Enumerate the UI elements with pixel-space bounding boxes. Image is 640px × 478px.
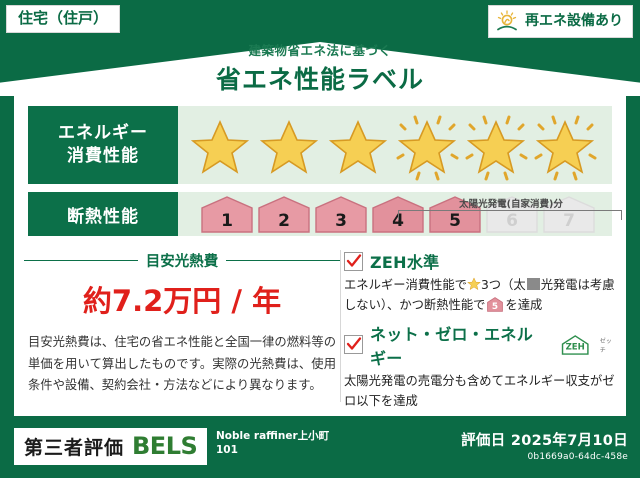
star-2 — [255, 111, 324, 181]
claim-net-zero-body: 太陽光発電の売電分も含めてエネルギー収支がゼロ以下を達成 — [344, 372, 616, 412]
energy-performance-label: エネルギー 消費性能 — [28, 106, 178, 184]
building-type-badge: 住宅（住戸） — [6, 5, 120, 33]
cost-rule-left — [24, 260, 138, 262]
zeh-logo-kana: ゼッチ — [600, 336, 616, 354]
cost-column: 目安光熱費 約7.2万円 / 年 目安光熱費は、住宅の省エネ性能と全国一律の燃料… — [24, 246, 340, 397]
star-1 — [186, 111, 255, 181]
evaluation-date-label: 評価日 — [461, 433, 505, 449]
energy-label-card: 住宅（住戸） 再エネ設備あり 建築物省エネ法に基づく 省エネ性能ラベル — [0, 0, 640, 478]
checkbox-net-zero — [344, 335, 363, 354]
evaluation-info: 評価日 2025年7月10日 0b1669a0-64dc-458e — [461, 429, 628, 462]
star-3 — [324, 111, 393, 181]
property-name: Noble raffiner上小町 — [216, 430, 466, 444]
label-title: 省エネ性能ラベル — [0, 60, 640, 96]
renewable-equipment-badge: 再エネ設備あり — [488, 5, 633, 38]
claim-net-zero-head: ネット・ゼロ・エネルギー ZEH ゼッチ — [344, 321, 616, 369]
claim-zeh-body-pre: エネルギー消費性能で — [344, 278, 467, 292]
claim-zeh-body-stars: 3つ（太 — [481, 278, 526, 292]
claim-net-zero-energy: ネット・ゼロ・エネルギー ZEH ゼッチ 太陽光発電の売電分も含めてエネルギー収… — [344, 321, 616, 412]
solar-generation-note: 太陽光発電(自家消費)分 — [392, 196, 630, 210]
insulation-level-1: 1 — [200, 195, 254, 234]
insulation-performance-label: 断熱性能 — [28, 192, 178, 236]
cost-note: 目安光熱費は、住宅の省エネ性能と全国一律の燃料等の単価を用いて算出したものです。… — [24, 332, 340, 397]
redaction-block — [527, 278, 540, 290]
insulation-label-text: 断熱性能 — [67, 202, 139, 227]
insulation-level-2-value: 2 — [278, 211, 290, 231]
energy-label-line1: エネルギー — [58, 122, 148, 145]
evaluation-date: 評価日 2025年7月10日 — [461, 429, 628, 450]
evaluation-date-value: 2025年7月10日 — [511, 433, 628, 449]
bels-badge: 第三者評価 BELS — [14, 428, 207, 465]
cost-rule-right — [226, 260, 340, 262]
bels-en-label: BELS — [132, 432, 197, 460]
claims-column: ZEH水準 エネルギー消費性能で3つ（太光発電は考慮しない）、かつ断熱性能で5を… — [344, 249, 616, 417]
inline-star-icon — [467, 277, 481, 291]
label-subtitle: 建築物省エネ法に基づく — [0, 40, 640, 59]
insulation-level-3: 3 — [314, 195, 368, 234]
renewable-badge-label: 再エネ設備あり — [525, 14, 623, 28]
check-icon — [346, 336, 362, 352]
energy-label-line2: 消費性能 — [67, 145, 139, 168]
lower-section: 目安光熱費 約7.2万円 / 年 目安光熱費は、住宅の省エネ性能と全国一律の燃料… — [14, 246, 626, 416]
star-4-solar — [393, 111, 462, 181]
claim-net-zero-title: ネット・ゼロ・エネルギー — [370, 321, 547, 369]
cost-heading-text: 目安光熱費 — [146, 250, 219, 271]
cost-value: 約7.2万円 / 年 — [24, 278, 340, 320]
footer: 第三者評価 BELS Noble raffiner上小町 101 評価日 202… — [0, 424, 640, 478]
insulation-level-3-value: 3 — [335, 211, 347, 231]
star-6-solar — [531, 111, 600, 181]
star-rating — [186, 110, 616, 182]
property-info: Noble raffiner上小町 101 — [216, 430, 466, 458]
title-block: 建築物省エネ法に基づく 省エネ性能ラベル — [0, 40, 640, 96]
inline-house-icon: 5 — [487, 297, 503, 312]
label-body: エネルギー 消費性能 — [14, 96, 626, 416]
claim-zeh-standard: ZEH水準 エネルギー消費性能で3つ（太光発電は考慮しない）、かつ断熱性能で5を… — [344, 249, 616, 316]
check-icon — [346, 253, 362, 269]
claim-zeh-standard-head: ZEH水準 — [344, 249, 616, 273]
evaluation-id: 0b1669a0-64dc-458e — [461, 452, 628, 462]
claim-zeh-standard-title: ZEH水準 — [370, 249, 439, 273]
zeh-logo-icon: ZEH — [558, 333, 592, 357]
insulation-level-1-value: 1 — [221, 211, 233, 231]
claim-zeh-body-post: を達成 — [505, 298, 542, 312]
solar-bracket — [398, 210, 622, 220]
svg-text:5: 5 — [492, 302, 498, 312]
insulation-level-2: 2 — [257, 195, 311, 234]
property-unit: 101 — [216, 444, 466, 458]
star-5-solar — [462, 111, 531, 181]
cost-heading: 目安光熱費 — [24, 250, 340, 271]
bels-jp-label: 第三者評価 — [24, 433, 124, 460]
vertical-divider — [340, 250, 341, 402]
claim-zeh-standard-body: エネルギー消費性能で3つ（太光発電は考慮しない）、かつ断熱性能で5を達成 — [344, 276, 616, 316]
svg-text:ZEH: ZEH — [566, 342, 585, 352]
sun-icon — [496, 10, 520, 32]
checkbox-zeh-standard — [344, 252, 363, 271]
